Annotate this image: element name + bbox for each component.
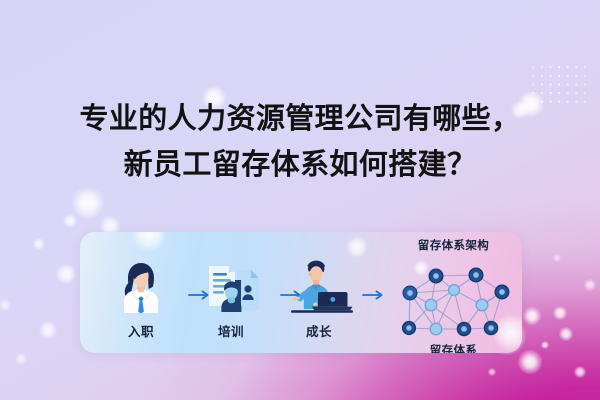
glow-dot <box>72 187 104 219</box>
arrow-growth-to-network <box>362 288 384 302</box>
page-title-line-2: 新员工留存体系如何搭建？ <box>0 142 600 188</box>
network-node-core <box>433 273 439 279</box>
glow-dot <box>15 353 27 365</box>
network-node-core <box>407 290 413 296</box>
employee-woman-icon <box>98 254 184 316</box>
glow-dot <box>553 306 568 321</box>
network-node <box>448 285 459 296</box>
flow-step-label: 培训 <box>188 321 274 340</box>
glow-dot <box>553 254 562 263</box>
network-node-core <box>461 326 467 332</box>
glow-dot <box>39 321 56 338</box>
glow-dot <box>559 327 574 342</box>
process-flow: 入职 <box>80 232 522 353</box>
glow-dot <box>488 368 497 377</box>
employee-laptop-icon <box>276 254 362 316</box>
flow-step-training[interactable]: 培训 <box>188 254 274 340</box>
glow-dot <box>523 307 540 324</box>
network-node <box>476 299 488 311</box>
network-node-core <box>406 325 411 330</box>
page-title: 专业的人力资源管理公司有哪些， 新员工留存体系如何搭建？ <box>0 96 600 188</box>
network-node-core <box>488 325 494 331</box>
infographic-card: 入职 <box>80 232 522 353</box>
glow-dot <box>56 264 76 284</box>
glow-dot <box>518 350 541 373</box>
poster-canvas: 专业的人力资源管理公司有哪些， 新员工留存体系如何搭建？ <box>0 0 600 400</box>
network-node <box>430 323 442 335</box>
glow-dot <box>541 341 550 350</box>
flow-step-label: 成长 <box>276 321 362 340</box>
network-node-core <box>499 289 505 295</box>
glow-dot <box>63 214 78 229</box>
network-label-bottom: 留存体系 <box>385 340 522 353</box>
retention-network[interactable]: 留存体系架构 留存体系 <box>385 232 522 353</box>
page-title-line-1: 专业的人力资源管理公司有哪些， <box>0 96 600 142</box>
flow-step-onboarding[interactable]: 入职 <box>98 254 184 340</box>
network-graph-icon <box>394 254 514 340</box>
glow-dot <box>584 279 596 291</box>
network-label-top: 留存体系架构 <box>385 232 522 253</box>
network-node-core <box>473 272 479 278</box>
training-document-icon <box>188 254 274 316</box>
flow-step-growth[interactable]: 成长 <box>276 254 362 340</box>
flow-step-label: 入职 <box>98 321 184 340</box>
glow-dot <box>574 366 586 378</box>
glow-dot <box>0 299 11 311</box>
network-node <box>425 299 437 311</box>
glow-dot <box>33 238 45 250</box>
